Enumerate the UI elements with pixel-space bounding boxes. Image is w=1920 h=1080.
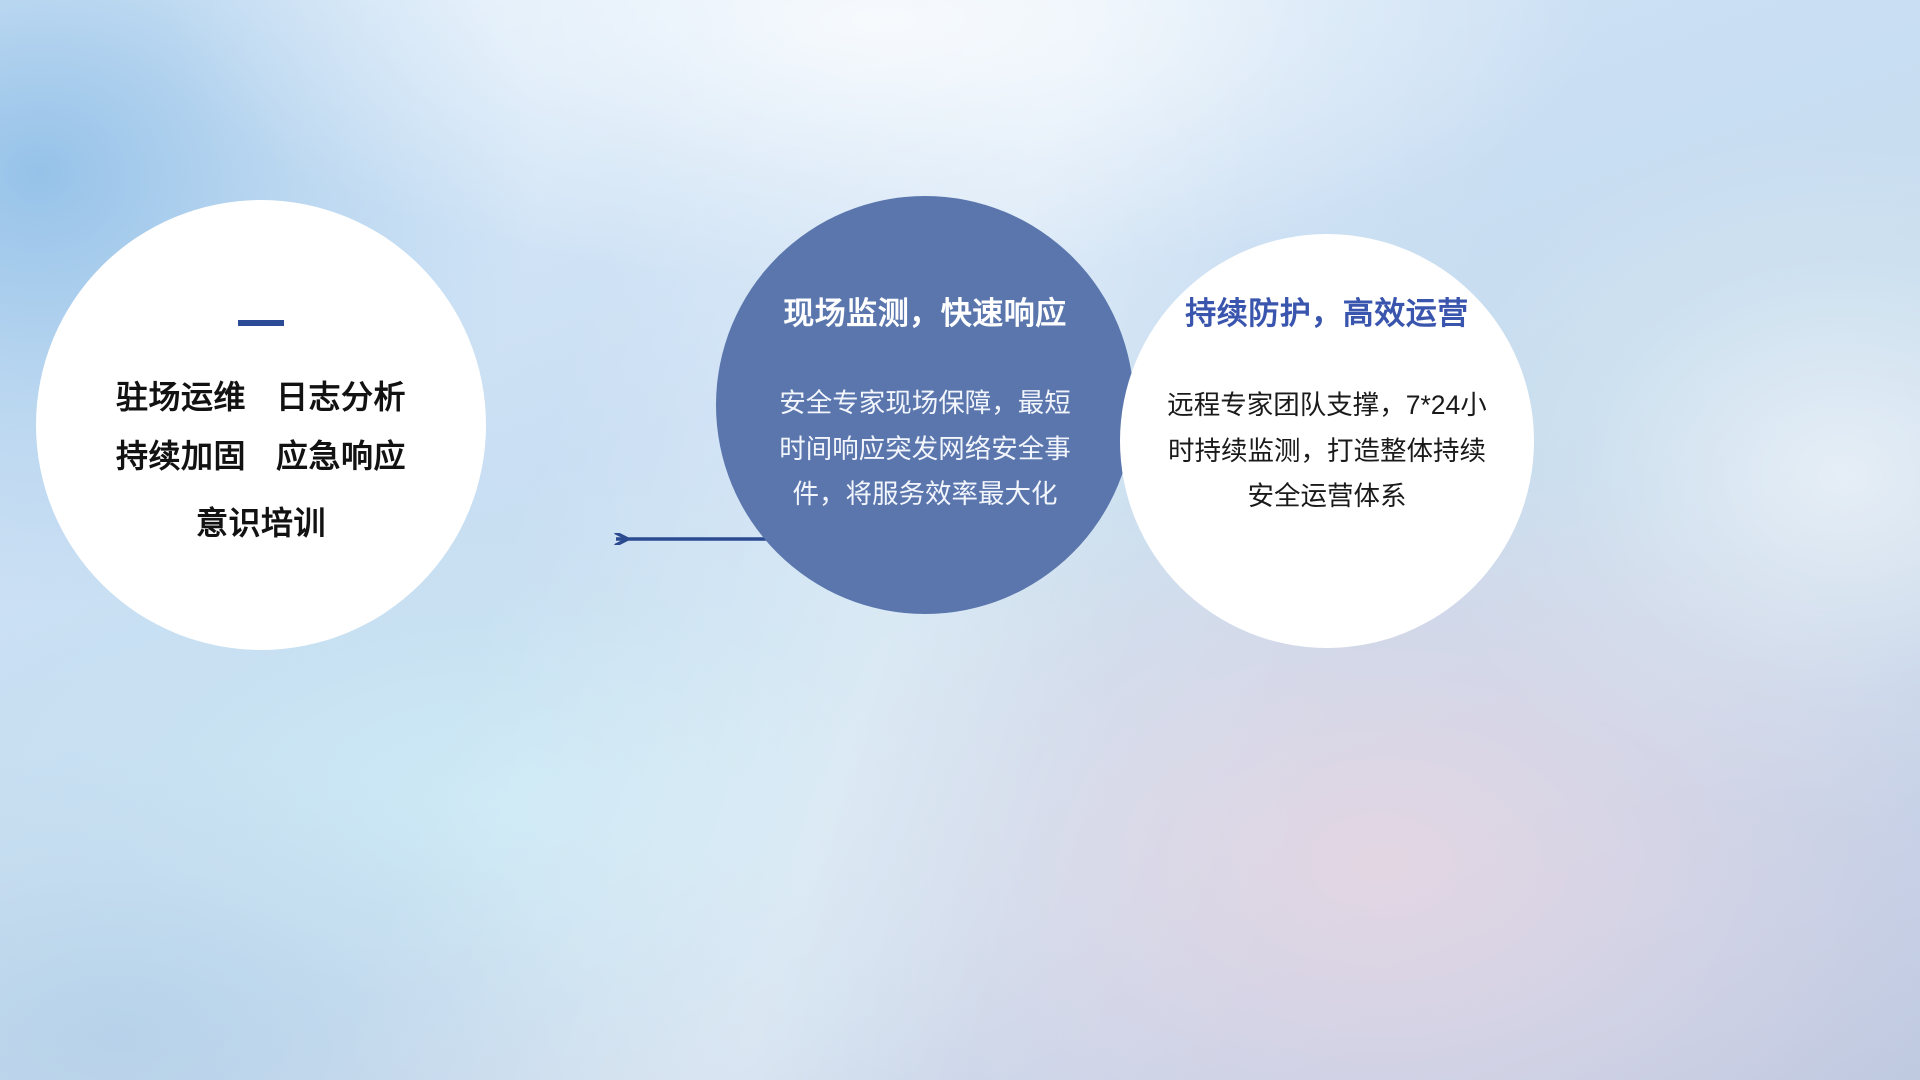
services-row: 持续加固应急响应 <box>116 427 406 486</box>
onsite-heading: 现场监测，快速响应 <box>783 288 1067 333</box>
services-row: 驻场运维日志分析 <box>116 368 406 427</box>
slide-canvas: 驻场运维日志分析 持续加固应急响应 意识培训 现场监测，快速响应 安全专家现场保… <box>0 0 1920 1080</box>
service-item-onsite-ops: 驻场运维 <box>116 379 246 415</box>
service-item-continuous-hardening: 持续加固 <box>116 438 246 474</box>
remote-heading: 持续防护，高效运营 <box>1185 288 1469 333</box>
accent-divider <box>238 320 284 326</box>
remote-operations-circle: 持续防护，高效运营 远程专家团队支撑，7*24小时持续监测，打造整体持续安全运营… <box>1120 234 1534 648</box>
services-text-block: 驻场运维日志分析 持续加固应急响应 意识培训 <box>116 368 406 554</box>
services-circle: 驻场运维日志分析 持续加固应急响应 意识培训 <box>36 200 486 650</box>
remote-body-text: 远程专家团队支撑，7*24小时持续监测，打造整体持续安全运营体系 <box>1157 383 1497 520</box>
services-row-last: 意识培训 <box>116 494 406 553</box>
service-item-awareness-training: 意识培训 <box>196 505 326 541</box>
service-item-log-analysis: 日志分析 <box>276 379 406 415</box>
service-item-emergency-response: 应急响应 <box>276 438 406 474</box>
onsite-monitoring-circle: 现场监测，快速响应 安全专家现场保障，最短时间响应突发网络安全事件，将服务效率最… <box>716 196 1134 614</box>
onsite-body-text: 安全专家现场保障，最短时间响应突发网络安全事件，将服务效率最大化 <box>775 381 1075 518</box>
